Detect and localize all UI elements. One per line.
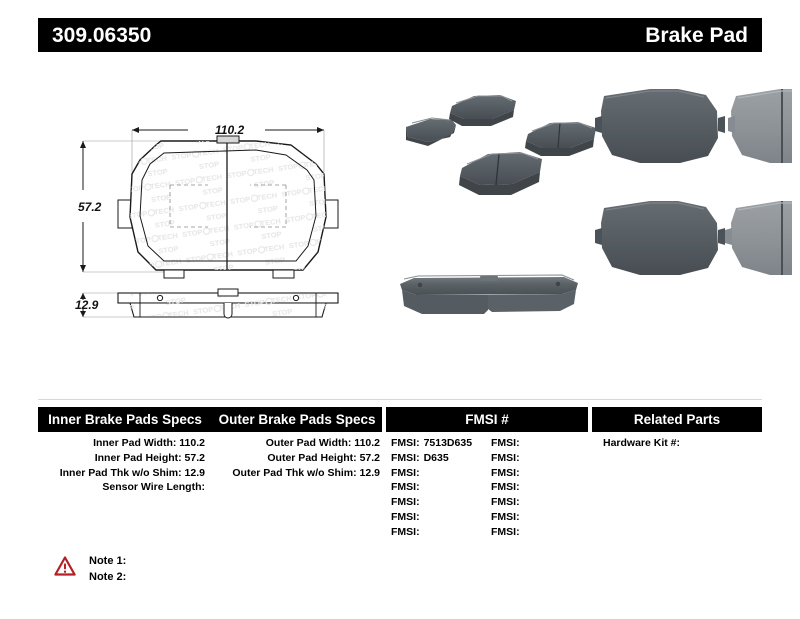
note-2: Note 2: (89, 569, 126, 585)
pad-photo-faceon-1 (595, 89, 725, 163)
related-parts-column: Hardware Kit #: (591, 436, 762, 451)
fmsi-row: FMSI:D635 (391, 451, 491, 466)
notes-text-block: Note 1: Note 2: (89, 553, 126, 585)
warning-triangle-icon (54, 556, 76, 576)
fmsi-grid: FMSI:7513D635 FMSI:D635 FMSI: FMSI: FMSI… (388, 436, 591, 540)
related-parts-list: Hardware Kit #: (591, 436, 762, 451)
fmsi-label: FMSI: (491, 496, 520, 508)
pad-photo-faceon-4 (725, 201, 792, 275)
technical-drawing: STOP TECH STOP TECH (60, 112, 400, 342)
inner-specs-column: Inner Pad Width: 110.2 Inner Pad Height:… (38, 436, 213, 495)
fmsi-row: FMSI: (391, 525, 491, 540)
pad-photo-angled-1 (406, 118, 456, 146)
outer-spec-item: Outer Pad Thk w/o Shim: 12.9 (213, 466, 380, 481)
fmsi-label: FMSI: (391, 452, 420, 464)
product-type-title: Brake Pad (645, 25, 748, 46)
fmsi-label: FMSI: (391, 481, 420, 493)
column-header-outer-specs: Outer Brake Pads Specs (212, 407, 382, 432)
fmsi-row: FMSI: (391, 495, 491, 510)
fmsi-label: FMSI: (491, 467, 520, 479)
fmsi-label: FMSI: (491, 511, 520, 523)
fmsi-label: FMSI: (391, 496, 420, 508)
pad-front-view (115, 132, 355, 282)
fmsi-label: FMSI: (391, 467, 420, 479)
outer-spec-item: Outer Pad Width: 110.2 (213, 436, 380, 451)
fmsi-row: FMSI: (491, 525, 591, 540)
part-number: 309.06350 (52, 25, 151, 46)
fmsi-label: FMSI: (391, 437, 420, 449)
dimension-thickness-label: 12.9 (75, 298, 98, 312)
spec-table-body: Inner Pad Width: 110.2 Inner Pad Height:… (38, 436, 762, 540)
fmsi-label: FMSI: (491, 481, 520, 493)
drawing-svg: STOP TECH STOP TECH (60, 112, 400, 342)
pad-photo-angled-4 (459, 152, 542, 195)
fmsi-left-list: FMSI:7513D635 FMSI:D635 FMSI: FMSI: FMSI… (391, 436, 491, 540)
column-header-fmsi: FMSI # (386, 407, 588, 432)
column-header-inner-specs: Inner Brake Pads Specs (38, 407, 212, 432)
pad-photo-faceon-3 (595, 201, 725, 275)
fmsi-column: FMSI:7513D635 FMSI:D635 FMSI: FMSI: FMSI… (388, 436, 591, 540)
fmsi-label: FMSI: (391, 511, 420, 523)
pad-photo-edge-view (400, 275, 578, 314)
fmsi-row: FMSI: (391, 480, 491, 495)
pad-photo-angled-group (406, 95, 596, 195)
fmsi-row: FMSI: (491, 466, 591, 481)
inner-specs-list: Inner Pad Width: 110.2 Inner Pad Height:… (38, 436, 213, 495)
inner-spec-item: Inner Pad Thk w/o Shim: 12.9 (38, 466, 205, 481)
note-1: Note 1: (89, 553, 126, 569)
fmsi-label: FMSI: (391, 526, 420, 538)
inner-spec-item: Inner Pad Height: 57.2 (38, 451, 205, 466)
pad-photo-angled-2 (449, 95, 516, 126)
inner-spec-item: Sensor Wire Length: (38, 480, 205, 495)
dimension-width-label: 110.2 (215, 123, 244, 137)
related-part-item: Hardware Kit #: (603, 436, 762, 451)
fmsi-value: D635 (424, 452, 449, 464)
fmsi-row: FMSI: (491, 451, 591, 466)
product-photos (392, 78, 792, 338)
outer-specs-list: Outer Pad Width: 110.2 Outer Pad Height:… (213, 436, 388, 480)
outer-spec-item: Outer Pad Height: 57.2 (213, 451, 380, 466)
fmsi-value: 7513D635 (424, 437, 472, 449)
inner-spec-item: Inner Pad Width: 110.2 (38, 436, 205, 451)
fmsi-row: FMSI:7513D635 (391, 436, 491, 451)
fmsi-row: FMSI: (391, 466, 491, 481)
header-bar: 309.06350 Brake Pad (38, 18, 762, 52)
fmsi-label: FMSI: (491, 437, 520, 449)
fmsi-row: FMSI: (391, 510, 491, 525)
fmsi-row: FMSI: (491, 436, 591, 451)
pad-photo-angled-3 (525, 122, 596, 156)
pad-photo-faceon-2 (728, 89, 792, 163)
fmsi-label: FMSI: (491, 452, 520, 464)
fmsi-right-list: FMSI: FMSI: FMSI: FMSI: FMSI: FMSI: FMSI… (491, 436, 591, 540)
column-header-related-parts: Related Parts (592, 407, 762, 432)
outer-specs-column: Outer Pad Width: 110.2 Outer Pad Height:… (213, 436, 388, 480)
spec-table-header-row: Inner Brake Pads Specs Outer Brake Pads … (38, 407, 762, 432)
fmsi-row: FMSI: (491, 495, 591, 510)
table-top-rule (38, 399, 762, 400)
notes-section: Note 1: Note 2: (54, 553, 126, 585)
pad-photo-faceon-group (595, 89, 792, 275)
fmsi-label: FMSI: (491, 526, 520, 538)
fmsi-row: FMSI: (491, 480, 591, 495)
dimension-height-label: 57.2 (78, 200, 101, 214)
fmsi-row: FMSI: (491, 510, 591, 525)
pad-side-view (118, 289, 338, 322)
photos-svg (392, 78, 792, 338)
